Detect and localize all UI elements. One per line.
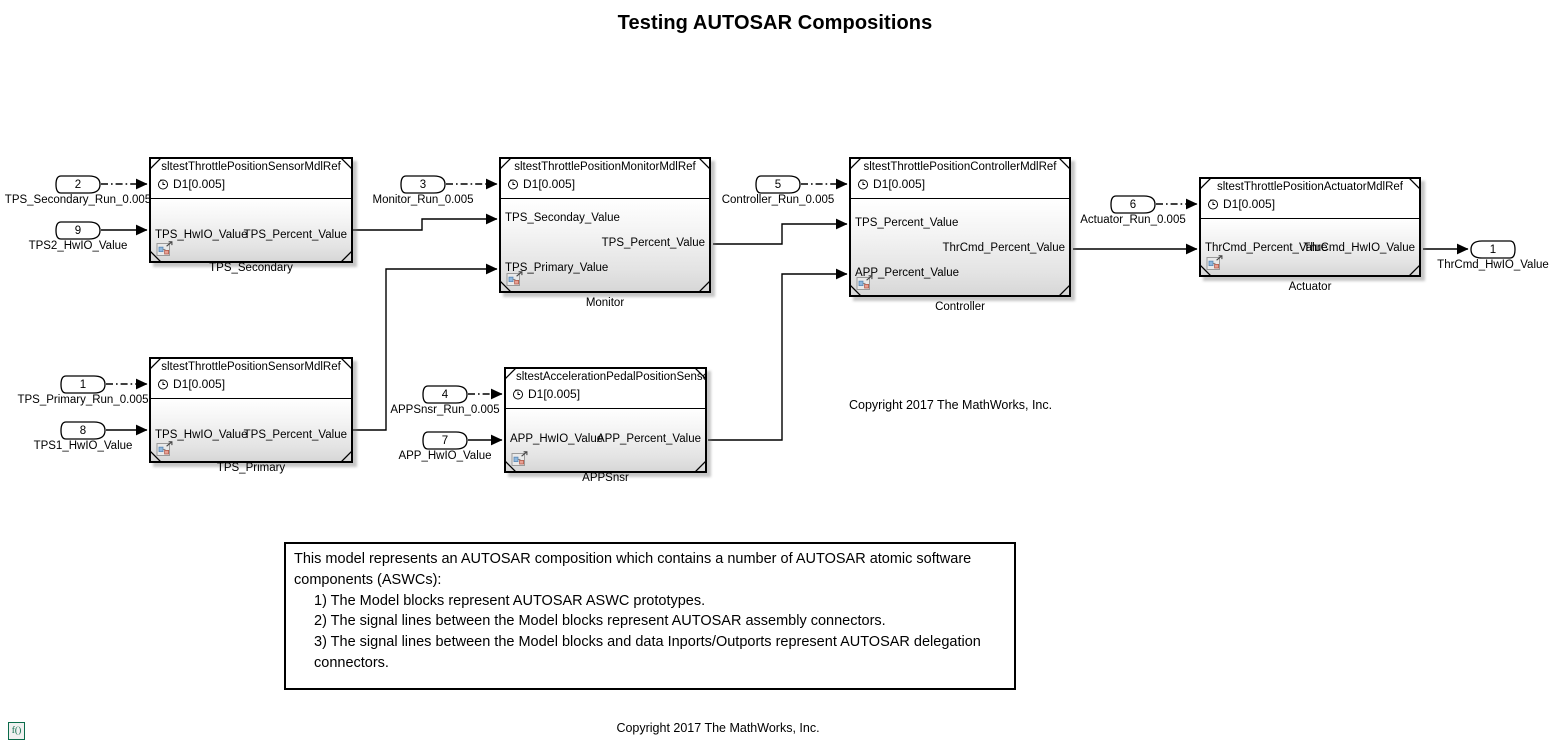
block-model-name: sltestThrottlePositionControllerMdlRef — [849, 161, 1071, 173]
block-input-label: TPS_HwIO_Value — [155, 429, 247, 441]
inport-label-7: APP_HwIO_Value — [365, 450, 525, 462]
block-name-actuator: Actuator — [1199, 281, 1421, 293]
inport-number: 4 — [422, 385, 468, 404]
block-input-label: TPS_HwIO_Value — [155, 229, 247, 241]
block-output-label: TPS_Percent_Value — [244, 229, 347, 241]
block-sample-time: D1[0.005] — [157, 377, 225, 391]
block-name-monitor: Monitor — [499, 297, 711, 309]
model-block-actuator[interactable]: sltestThrottlePositionActuatorMdlRef D1[… — [1199, 177, 1421, 277]
clock-icon — [507, 178, 519, 190]
inport-number: 6 — [1110, 195, 1156, 214]
block-model-name: sltestAccelerationPedalPositionSensorMdl… — [508, 371, 707, 383]
inport-number: 7 — [422, 431, 468, 450]
outport-label-1: ThrCmd_HwIO_Value — [1418, 259, 1550, 271]
model-reference-icon — [506, 271, 523, 287]
inport-6[interactable]: 6 — [1110, 195, 1156, 214]
annotation-line-2: 1) The Model blocks represent AUTOSAR AS… — [294, 591, 1006, 612]
block-model-name: sltestThrottlePositionSensorMdlRef — [149, 361, 353, 373]
inport-number: 8 — [60, 421, 106, 440]
block-output-label: ThrCmd_Percent_Value — [942, 242, 1065, 254]
inport-9[interactable]: 9 — [55, 221, 101, 240]
block-input-label: TPS_Percent_Value — [855, 217, 958, 229]
sample-time-text: D1[0.005] — [528, 387, 580, 401]
block-model-name: sltestThrottlePositionSensorMdlRef — [149, 161, 353, 173]
function-icon[interactable]: f() — [8, 722, 25, 740]
inport-2[interactable]: 2 — [55, 175, 101, 194]
inport-label-4: APPSnsr_Run_0.005 — [365, 404, 525, 416]
inport-5[interactable]: 5 — [755, 175, 801, 194]
block-output-label: ThrCmd_HwIO_Value — [1303, 242, 1415, 254]
clock-icon — [157, 178, 169, 190]
block-name-appsnsr: APPSnsr — [504, 472, 707, 484]
annotation-line-1: This model represents an AUTOSAR composi… — [294, 549, 1006, 591]
model-block-controller[interactable]: sltestThrottlePositionControllerMdlRef D… — [849, 157, 1071, 297]
block-sample-time: D1[0.005] — [507, 177, 575, 191]
model-reference-icon — [156, 241, 173, 257]
annotation-line-3: 2) The signal lines between the Model bl… — [294, 611, 1006, 632]
inport-number: 2 — [55, 175, 101, 194]
model-block-appsnsr[interactable]: sltestAccelerationPedalPositionSensorMdl… — [504, 367, 707, 473]
clock-icon — [857, 178, 869, 190]
sample-time-text: D1[0.005] — [873, 177, 925, 191]
model-block-tps-primary[interactable]: sltestThrottlePositionSensorMdlRef D1[0.… — [149, 357, 353, 463]
block-sample-time: D1[0.005] — [157, 177, 225, 191]
model-reference-icon — [156, 441, 173, 457]
block-model-name: sltestThrottlePositionActuatorMdlRef — [1199, 181, 1421, 193]
block-input-label: TPS_Seconday_Value — [505, 212, 620, 224]
inport-3[interactable]: 3 — [400, 175, 446, 194]
outport-number: 1 — [1470, 240, 1516, 259]
model-reference-icon — [511, 451, 528, 467]
inport-4[interactable]: 4 — [422, 385, 468, 404]
block-output-label: APP_Percent_Value — [597, 433, 701, 445]
block-output-label: TPS_Percent_Value — [602, 237, 705, 249]
model-block-monitor[interactable]: sltestThrottlePositionMonitorMdlRef D1[0… — [499, 157, 711, 293]
block-name-tps-primary: TPS_Primary — [149, 462, 353, 474]
inport-label-5: Controller_Run_0.005 — [698, 194, 858, 206]
inport-number: 9 — [55, 221, 101, 240]
simulink-canvas: Testing AUTOSAR Compositions — [0, 0, 1550, 747]
block-name-tps-secondary: TPS_Secondary — [149, 262, 353, 274]
inport-label-3: Monitor_Run_0.005 — [343, 194, 503, 206]
sample-time-text: D1[0.005] — [523, 177, 575, 191]
inport-7[interactable]: 7 — [422, 431, 468, 450]
copyright-middle: Copyright 2017 The MathWorks, Inc. — [849, 398, 1052, 412]
block-sample-time: D1[0.005] — [1207, 197, 1275, 211]
clock-icon — [512, 388, 524, 400]
annotation-text: This model represents an AUTOSAR composi… — [294, 549, 1006, 674]
model-reference-icon — [856, 275, 873, 291]
model-block-tps-secondary[interactable]: sltestThrottlePositionSensorMdlRef D1[0.… — [149, 157, 353, 263]
block-output-label: TPS_Percent_Value — [244, 429, 347, 441]
model-reference-icon — [1206, 255, 1223, 271]
sample-time-text: D1[0.005] — [173, 377, 225, 391]
annotation-box[interactable]: This model represents an AUTOSAR composi… — [284, 542, 1016, 690]
outport-1[interactable]: 1 — [1470, 240, 1516, 259]
block-input-label: APP_HwIO_Value — [510, 433, 603, 445]
inport-8[interactable]: 8 — [60, 421, 106, 440]
inport-number: 3 — [400, 175, 446, 194]
sample-time-text: D1[0.005] — [1223, 197, 1275, 211]
block-sample-time: D1[0.005] — [512, 387, 580, 401]
inport-1[interactable]: 1 — [60, 375, 106, 394]
block-sample-time: D1[0.005] — [857, 177, 925, 191]
copyright-bottom: Copyright 2017 The MathWorks, Inc. — [0, 721, 1436, 735]
clock-icon — [1207, 198, 1219, 210]
block-name-controller: Controller — [849, 301, 1071, 313]
sample-time-text: D1[0.005] — [173, 177, 225, 191]
inport-number: 1 — [60, 375, 106, 394]
block-model-name: sltestThrottlePositionMonitorMdlRef — [499, 161, 711, 173]
inport-label-6: Actuator_Run_0.005 — [1058, 214, 1208, 226]
clock-icon — [157, 378, 169, 390]
annotation-line-4: 3) The signal lines between the Model bl… — [294, 632, 1006, 674]
inport-number: 5 — [755, 175, 801, 194]
